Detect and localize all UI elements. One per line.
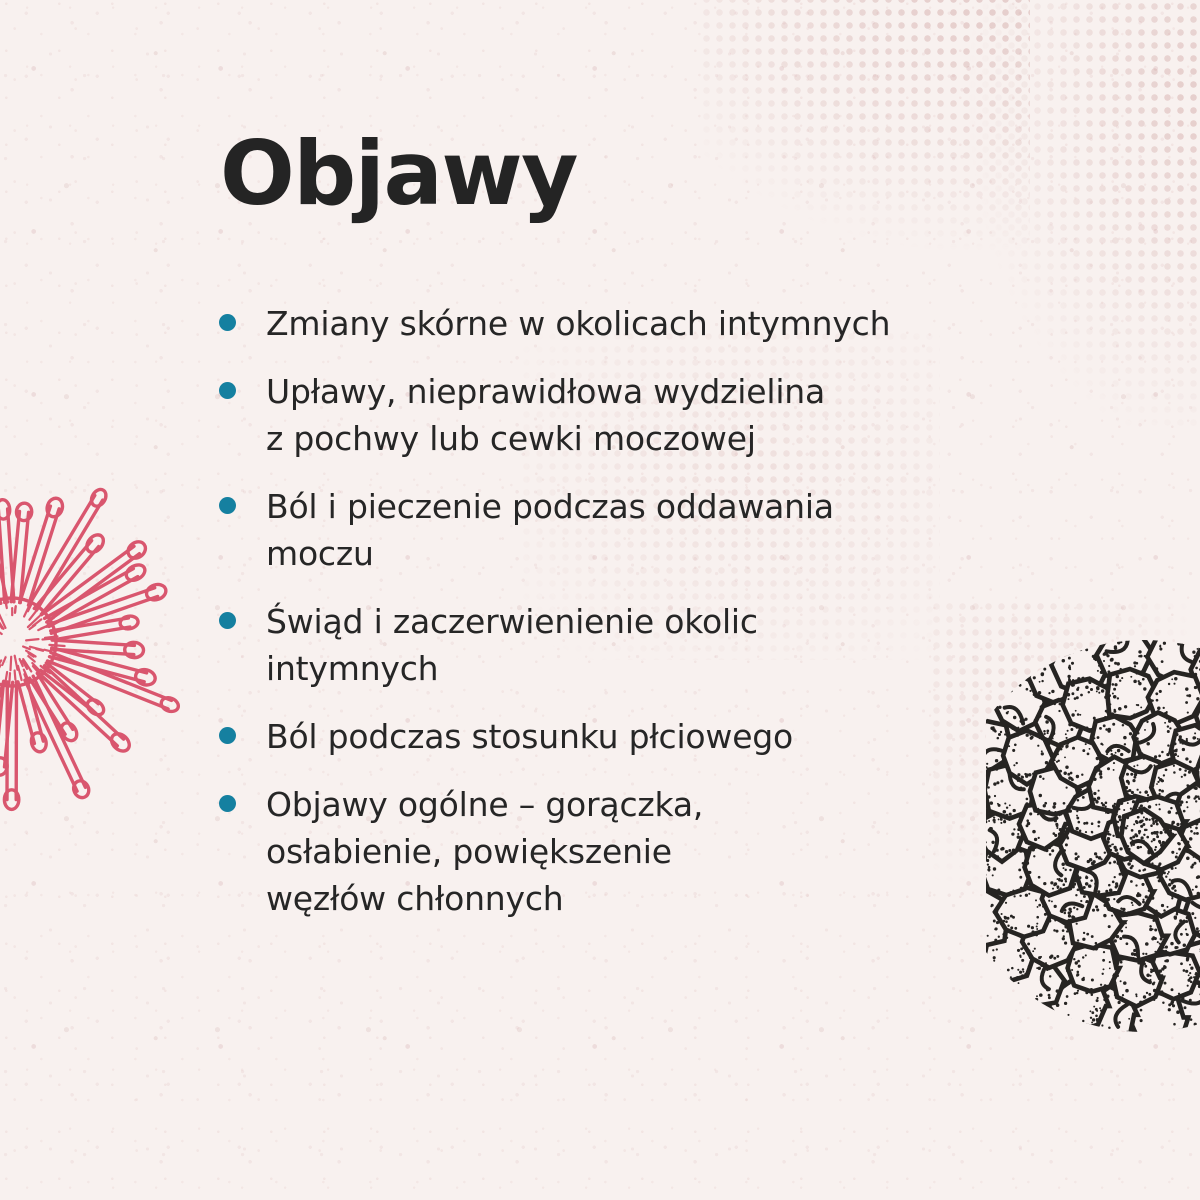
page-title: Objawy	[220, 126, 577, 221]
list-item: Ból i pieczenie podczas oddawania moczu	[219, 483, 1039, 577]
bullet-dot-icon	[219, 497, 236, 514]
list-item-label: Świąd i zaczerwienienie okolic intymnych	[266, 598, 758, 692]
bullet-dot-icon	[219, 314, 236, 331]
list-item-label: Ból i pieczenie podczas oddawania moczu	[266, 483, 834, 577]
bullet-dot-icon	[219, 795, 236, 812]
symptoms-infographic-poster: Objawy Zmiany skórne w okolicach intymny…	[0, 0, 1200, 1200]
list-item-label: Ból podczas stosunku płciowego	[266, 713, 793, 760]
list-item: Upławy, nieprawidłowa wydzielina z pochw…	[219, 368, 1039, 462]
list-item: Ból podczas stosunku płciowego	[219, 713, 1039, 760]
symptom-list: Zmiany skórne w okolicach intymnych Upła…	[219, 300, 1039, 943]
bullet-dot-icon	[219, 727, 236, 744]
poster-content: Objawy Zmiany skórne w okolicach intymny…	[0, 0, 1200, 1200]
bullet-dot-icon	[219, 612, 236, 629]
list-item: Objawy ogólne – gorączka, osłabienie, po…	[219, 781, 1039, 922]
list-item-label: Objawy ogólne – gorączka, osłabienie, po…	[266, 781, 703, 922]
list-item: Zmiany skórne w okolicach intymnych	[219, 300, 1039, 347]
bullet-dot-icon	[219, 382, 236, 399]
list-item-label: Upławy, nieprawidłowa wydzielina z pochw…	[266, 368, 825, 462]
list-item-label: Zmiany skórne w okolicach intymnych	[266, 300, 890, 347]
list-item: Świąd i zaczerwienienie okolic intymnych	[219, 598, 1039, 692]
